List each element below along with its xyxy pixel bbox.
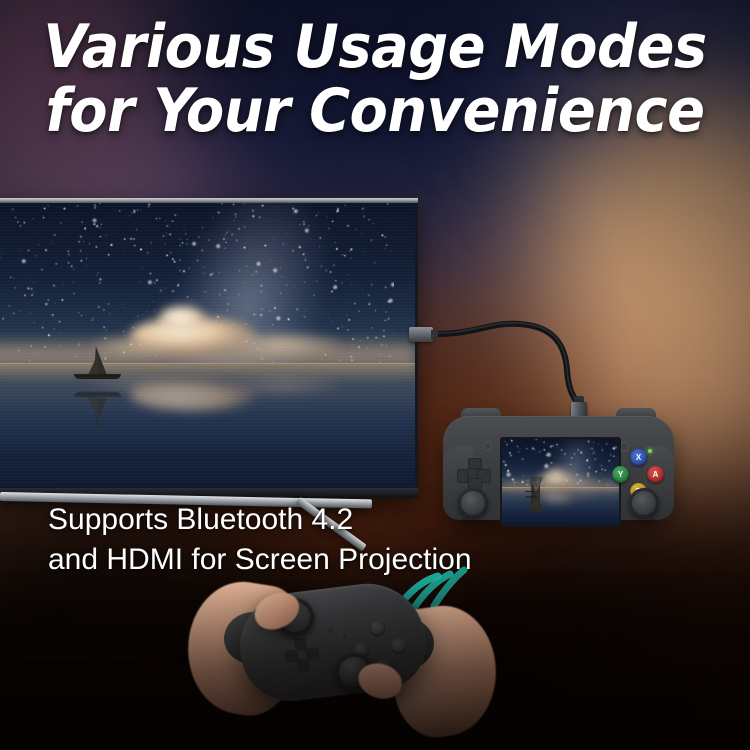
sailboat-reflection bbox=[70, 385, 125, 428]
hdmi-plug-tv-tip bbox=[431, 330, 438, 339]
television bbox=[0, 198, 418, 498]
subtitle-line-1: Supports Bluetooth 4.2 bbox=[48, 500, 548, 540]
bottom-fade-overlay bbox=[0, 570, 750, 750]
sail-reflection bbox=[87, 396, 98, 419]
horizon-line bbox=[0, 363, 415, 364]
cloud-reflection bbox=[223, 374, 342, 397]
cloud bbox=[223, 331, 342, 357]
button-x[interactable]: X bbox=[630, 449, 647, 466]
sailboat bbox=[70, 346, 125, 386]
tv-screen-scene bbox=[0, 203, 415, 488]
headline: Various Usage Modes for Your Convenience bbox=[26, 16, 724, 143]
cloud bbox=[549, 470, 562, 478]
hdmi-plug-tv bbox=[409, 327, 433, 342]
hull bbox=[74, 374, 121, 379]
hull-reflection bbox=[74, 392, 121, 398]
analog-stick-right[interactable] bbox=[629, 488, 659, 518]
button-y[interactable]: Y bbox=[612, 466, 629, 483]
button-a[interactable]: A bbox=[647, 466, 664, 483]
handheld-button-left-aux[interactable] bbox=[483, 442, 492, 451]
headline-line-2: for Your Convenience bbox=[26, 80, 724, 144]
promo-image: Various Usage Modes for Your Convenience bbox=[0, 0, 750, 750]
hull-reflection bbox=[525, 496, 538, 498]
cloud bbox=[159, 306, 206, 332]
tv-screen bbox=[0, 203, 415, 488]
headline-line-1: Various Usage Modes bbox=[43, 12, 706, 82]
horizon-line bbox=[502, 487, 619, 488]
cloud-reflection bbox=[566, 491, 599, 498]
handheld-dpad[interactable] bbox=[457, 458, 491, 492]
